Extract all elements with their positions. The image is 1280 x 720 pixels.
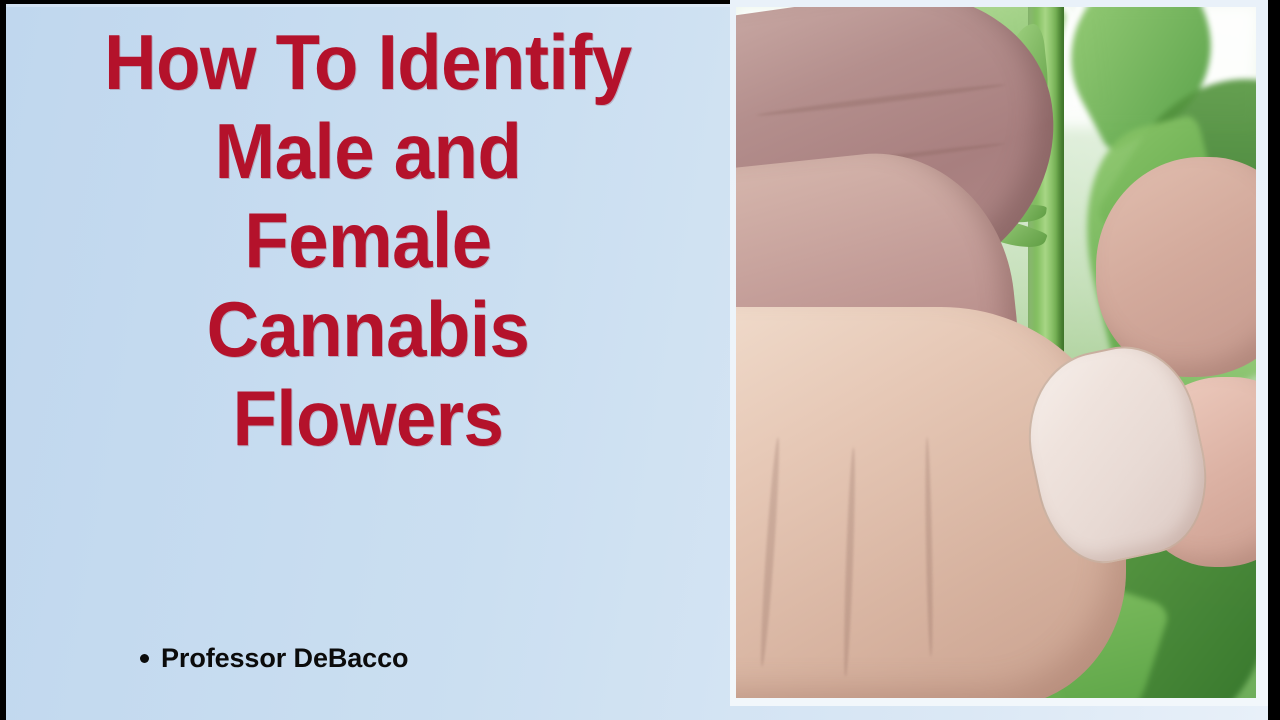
title-line-4: Cannabis — [35, 285, 701, 374]
slide-title: How To Identify Male and Female Cannabis… — [35, 18, 701, 463]
photo-frame — [730, 0, 1268, 706]
byline-bullet-item: Professor DeBacco — [140, 643, 408, 674]
title-line-2: Male and — [35, 107, 701, 196]
title-line-1: How To Identify — [35, 18, 701, 107]
title-line-3: Female — [35, 196, 701, 285]
cannabis-stem-photo — [736, 7, 1256, 698]
byline-text: Professor DeBacco — [161, 643, 408, 674]
slide-canvas: How To Identify Male and Female Cannabis… — [0, 0, 1280, 720]
title-line-5: Flowers — [35, 374, 701, 463]
bullet-dot-icon — [140, 654, 149, 663]
